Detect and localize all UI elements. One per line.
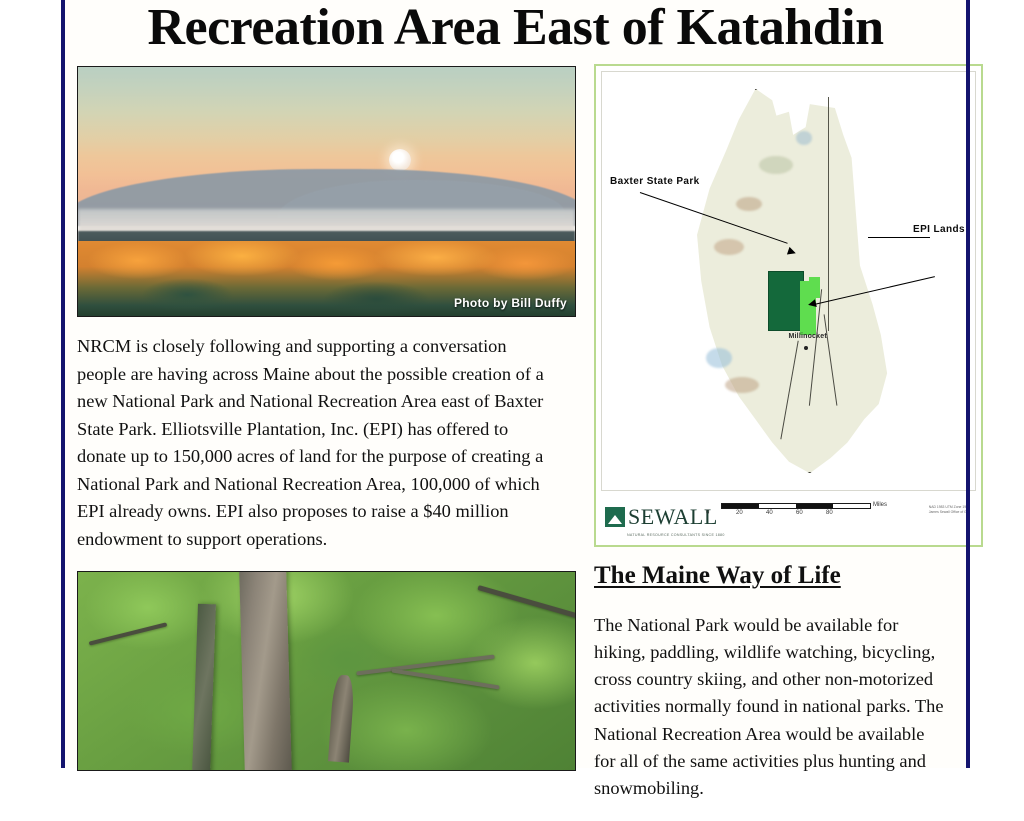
scale-tick: 0 <box>706 510 736 516</box>
map-label-epi-lands: EPI Lands <box>913 224 965 235</box>
maine-map-panel: Baxter State Park EPI Lands Millinocket … <box>594 64 983 547</box>
left-page-rule <box>61 0 65 768</box>
map-canvas: Baxter State Park EPI Lands Millinocket <box>601 71 976 491</box>
forest-canopy <box>78 572 575 770</box>
epi-lands-polygon <box>809 277 820 298</box>
map-footer: SEWALL NATURAL RESOURCE CONSULTANTS SINC… <box>601 491 976 543</box>
scale-tick: 80 <box>826 510 856 516</box>
map-terrain-patch <box>759 156 793 174</box>
right-column: Baxter State Park EPI Lands Millinocket … <box>594 64 986 821</box>
epi-leader-line <box>868 237 930 238</box>
sewall-mark-icon <box>605 507 625 527</box>
maine-way-of-life-body: The National Park would be available for… <box>594 612 950 802</box>
photo-credit: Photo by Bill Duffy <box>454 296 567 310</box>
map-projection-note: NAD 1983 UTM Zone 19N James Sewall Offic… <box>929 505 970 515</box>
left-column: Photo by Bill Duffy NRCM is closely foll… <box>77 66 577 771</box>
millinocket-city-dot <box>804 346 808 350</box>
document-page: Recreation Area East of Katahdin Photo b… <box>0 0 1024 768</box>
map-label-baxter-state-park: Baxter State Park <box>610 176 700 187</box>
main-tree-trunk <box>239 571 292 771</box>
sewall-wordmark: SEWALL <box>628 504 718 530</box>
scale-bar-segments <box>721 503 871 509</box>
scale-tick: 60 <box>796 510 826 516</box>
map-label-millinocket: Millinocket <box>789 333 827 340</box>
scale-segment <box>722 504 759 508</box>
scale-tick-labels: 0 20 40 60 80 <box>721 510 871 516</box>
sewall-logo: SEWALL NATURAL RESOURCE CONSULTANTS SINC… <box>605 504 718 530</box>
forest-photo <box>77 571 576 771</box>
page-title: Recreation Area East of Katahdin <box>65 0 966 65</box>
scale-segment <box>796 504 833 508</box>
baxter-state-park-polygon <box>768 271 804 332</box>
map-county-border <box>828 97 829 331</box>
scale-segment <box>759 504 796 508</box>
scale-units-label: Miles <box>873 502 887 508</box>
moon-icon <box>389 149 411 171</box>
page-content-area: Recreation Area East of Katahdin Photo b… <box>65 0 966 768</box>
maine-way-of-life-heading: The Maine Way of Life <box>594 561 986 591</box>
scale-tick: 40 <box>766 510 796 516</box>
map-scale-bar: 0 20 40 60 80 Miles <box>721 503 871 516</box>
map-lake <box>796 131 812 145</box>
right-page-rule <box>966 0 970 768</box>
intro-paragraph: NRCM is closely following and supporting… <box>77 333 551 553</box>
katahdin-sunset-photo: Photo by Bill Duffy <box>77 66 576 317</box>
sewall-tagline: NATURAL RESOURCE CONSULTANTS SINCE 1880 <box>627 533 725 537</box>
scale-tick: 20 <box>736 510 766 516</box>
scale-segment <box>833 504 870 508</box>
